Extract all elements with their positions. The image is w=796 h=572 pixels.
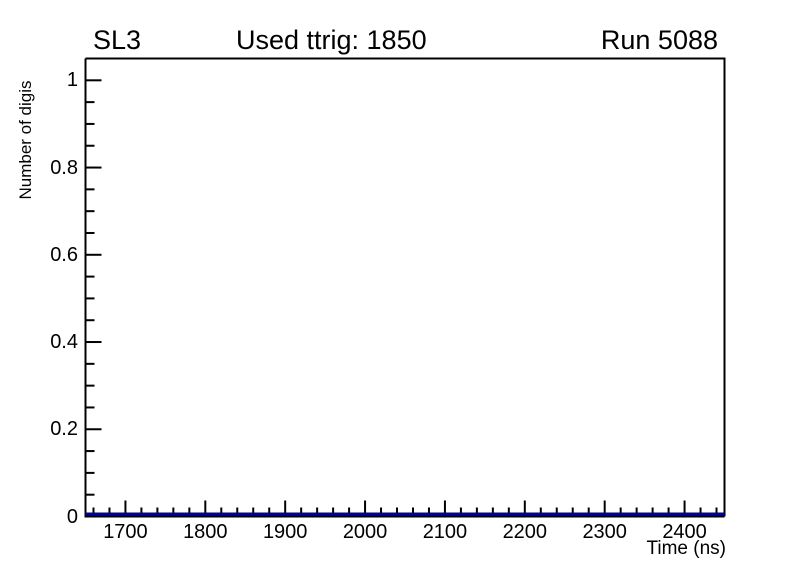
y-axis-ticks (86, 80, 102, 516)
y-tick-label: 0.6 (50, 245, 78, 265)
x-tick-label: 2000 (343, 522, 388, 542)
y-tick-label: 0.2 (50, 419, 78, 439)
x-tick-label: 1700 (103, 522, 148, 542)
axis-frame (86, 59, 725, 517)
plot-area (0, 0, 796, 572)
root-canvas: SL3 Used ttrig: 1850 Run 5088 Number of … (0, 0, 796, 572)
x-tick-label: 2200 (503, 522, 548, 542)
x-tick-label: 1800 (183, 522, 228, 542)
y-tick-label: 0.4 (50, 332, 78, 352)
x-tick-label: 2400 (662, 522, 707, 542)
y-tick-label: 0.8 (50, 158, 78, 178)
x-tick-label: 1900 (263, 522, 308, 542)
x-tick-label: 2300 (582, 522, 627, 542)
x-tick-label: 2100 (423, 522, 468, 542)
y-tick-label: 0 (67, 507, 78, 527)
y-tick-label: 1 (67, 70, 78, 90)
